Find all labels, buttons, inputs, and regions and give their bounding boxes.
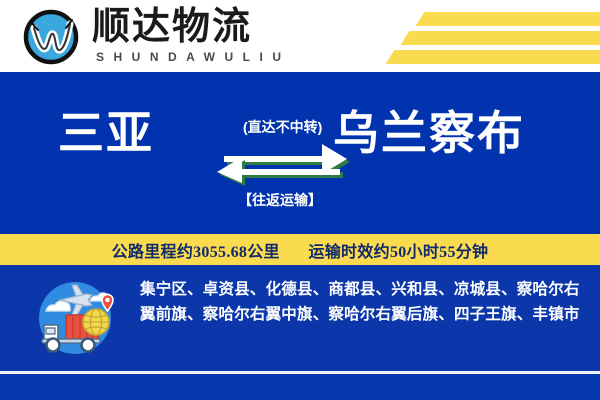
origin-city: 三亚 xyxy=(58,106,154,162)
direct-route-note: (直达不中转) xyxy=(243,117,322,137)
banner-header: 顺达物流 SHUNDAWULIU xyxy=(0,0,600,72)
header-stripes-decoration xyxy=(310,0,600,72)
route-info-bar: 公路里程约3055.68公里 运输时效约50小时55分钟 xyxy=(0,234,600,265)
stripe-2 xyxy=(401,31,600,45)
round-trip-note: 【往返运输】 xyxy=(238,190,322,210)
brand-name-cn: 顺达物流 xyxy=(92,5,252,49)
destination-city: 乌兰察布 xyxy=(333,106,525,162)
route-section: 三亚 (直达不中转) 【往返运输】 乌兰察布 xyxy=(0,72,600,234)
coverage-section: 集宁区、卓资县、化德县、商都县、兴和县、凉城县、察哈尔右翼前旗、察哈尔右翼中旗、… xyxy=(0,265,600,372)
distance-text: 公路里程约3055.68公里 xyxy=(112,244,280,261)
stripe-1 xyxy=(416,12,600,26)
banner-footer xyxy=(0,374,600,400)
brand-name-en: SHUNDAWULIU xyxy=(96,50,291,64)
duration-text: 运输时效约50小时55分钟 xyxy=(308,244,488,261)
truck-globe-logistics-icon xyxy=(32,277,118,359)
route-info-text: 公路里程约3055.68公里 运输时效约50小时55分钟 xyxy=(112,238,489,262)
bidirectional-arrow-icon xyxy=(214,142,350,186)
logistics-route-banner: 顺达物流 SHUNDAWULIU 三亚 (直达不中转) xyxy=(0,0,600,400)
stripe-3 xyxy=(386,50,600,64)
company-logo-icon xyxy=(22,8,80,66)
coverage-area-list: 集宁区、卓资县、化德县、商都县、兴和县、凉城县、察哈尔右翼前旗、察哈尔右翼中旗、… xyxy=(140,277,580,327)
